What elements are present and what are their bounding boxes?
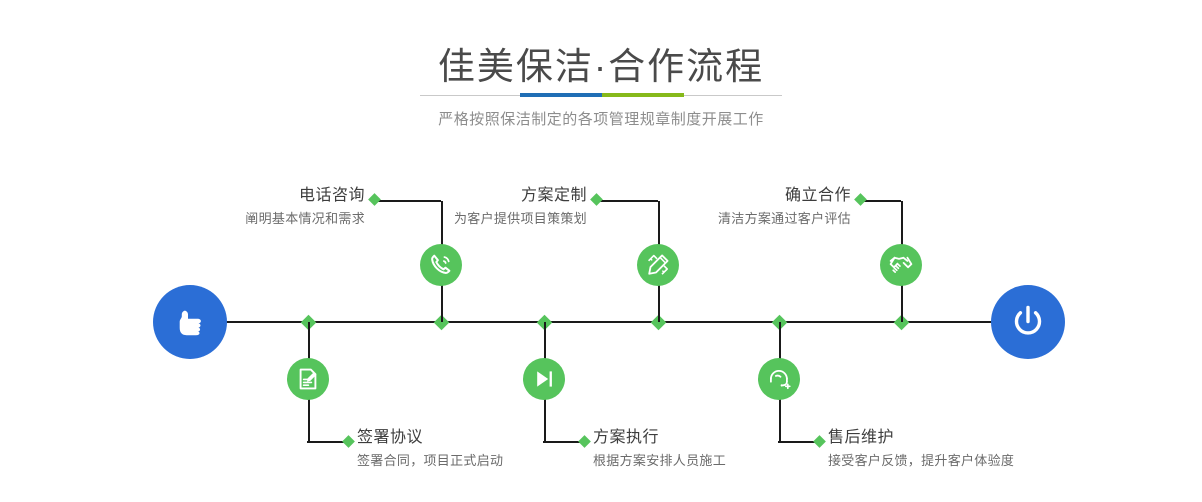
step-icon-1[interactable] bbox=[420, 244, 462, 286]
step-desc-3: 为客户提供项目策策划 bbox=[330, 209, 587, 228]
divider-segment-blue bbox=[520, 93, 602, 97]
step-label-5: 确立合作 清洁方案通过客户评估 bbox=[590, 186, 851, 228]
label-marker-5 bbox=[854, 193, 867, 206]
step-label-1: 电话咨询 阐明基本情况和需求 bbox=[110, 186, 365, 228]
step-desc-6: 接受客户反馈，提升客户体验度 bbox=[828, 451, 1148, 470]
step-title-5: 确立合作 bbox=[590, 186, 851, 206]
title-divider bbox=[420, 93, 782, 97]
step-title-3: 方案定制 bbox=[330, 186, 587, 206]
timeline-end-badge bbox=[991, 285, 1065, 359]
step-icon-5[interactable] bbox=[880, 244, 922, 286]
label-marker-2 bbox=[342, 435, 355, 448]
divider-segment-green bbox=[602, 93, 684, 97]
step-title-6: 售后维护 bbox=[828, 428, 1148, 448]
step-icon-3[interactable] bbox=[637, 244, 679, 286]
step-label-3: 方案定制 为客户提供项目策策划 bbox=[330, 186, 587, 228]
step-icon-4[interactable] bbox=[523, 358, 565, 400]
process-flow-infographic: 佳美保洁·合作流程 严格按照保洁制定的各项管理规章制度开展工作 bbox=[0, 0, 1202, 502]
step-icon-2[interactable] bbox=[287, 358, 329, 400]
step-title-1: 电话咨询 bbox=[110, 186, 365, 206]
timeline-axis bbox=[225, 321, 997, 323]
page-subtitle: 严格按照保洁制定的各项管理规章制度开展工作 bbox=[0, 108, 1202, 129]
step-icon-6[interactable] bbox=[758, 358, 800, 400]
step-desc-1: 阐明基本情况和需求 bbox=[110, 209, 365, 228]
connector-elbow-5 bbox=[861, 200, 901, 202]
timeline-start-badge bbox=[153, 285, 227, 359]
step-label-6: 售后维护 接受客户反馈，提升客户体验度 bbox=[828, 428, 1148, 470]
step-desc-5: 清洁方案通过客户评估 bbox=[590, 209, 851, 228]
page-title: 佳美保洁·合作流程 bbox=[0, 36, 1202, 90]
